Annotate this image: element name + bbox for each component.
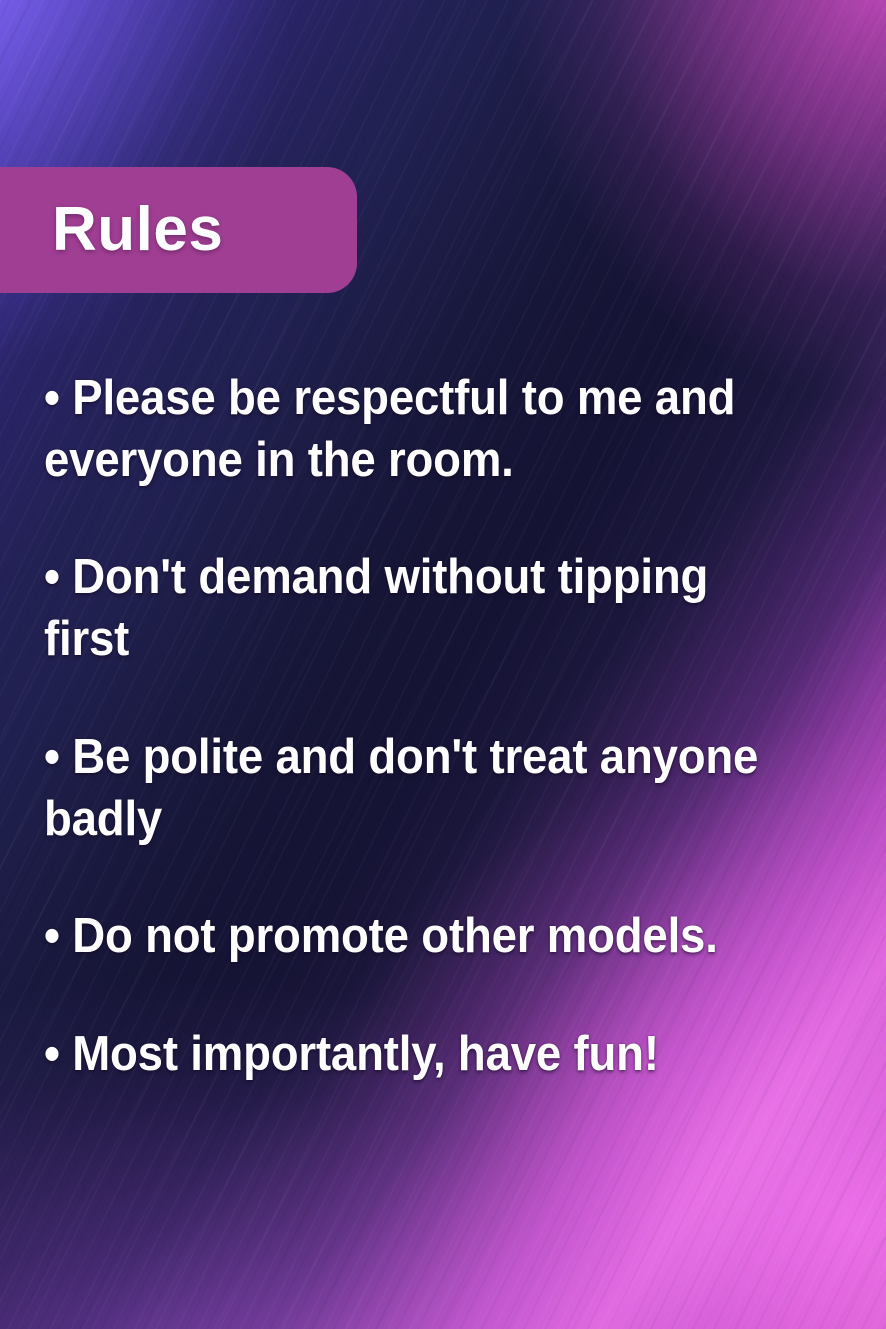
rules-poster: Rules • Please be respectful to me and e… bbox=[0, 0, 886, 1329]
rule-text: • Don't demand without tipping first bbox=[44, 550, 708, 666]
rule-item: • Be polite and don't treat anyone badly bbox=[44, 727, 803, 850]
poster-content: Rules • Please be respectful to me and e… bbox=[0, 0, 886, 1329]
rule-item: • Please be respectful to me and everyon… bbox=[44, 368, 803, 491]
rule-text: • Most importantly, have fun! bbox=[44, 1027, 659, 1081]
rules-list: • Please be respectful to me and everyon… bbox=[44, 368, 860, 1086]
rule-item: • Most importantly, have fun! bbox=[44, 1024, 803, 1086]
page-title: Rules bbox=[52, 199, 223, 261]
rule-text: • Please be respectful to me and everyon… bbox=[44, 371, 735, 487]
rule-item: • Do not promote other models. bbox=[44, 906, 803, 968]
rule-text: • Do not promote other models. bbox=[44, 909, 718, 963]
rule-item: • Don't demand without tipping first bbox=[44, 547, 803, 670]
rule-text: • Be polite and don't treat anyone badly bbox=[44, 730, 758, 846]
title-badge: Rules bbox=[0, 167, 357, 293]
